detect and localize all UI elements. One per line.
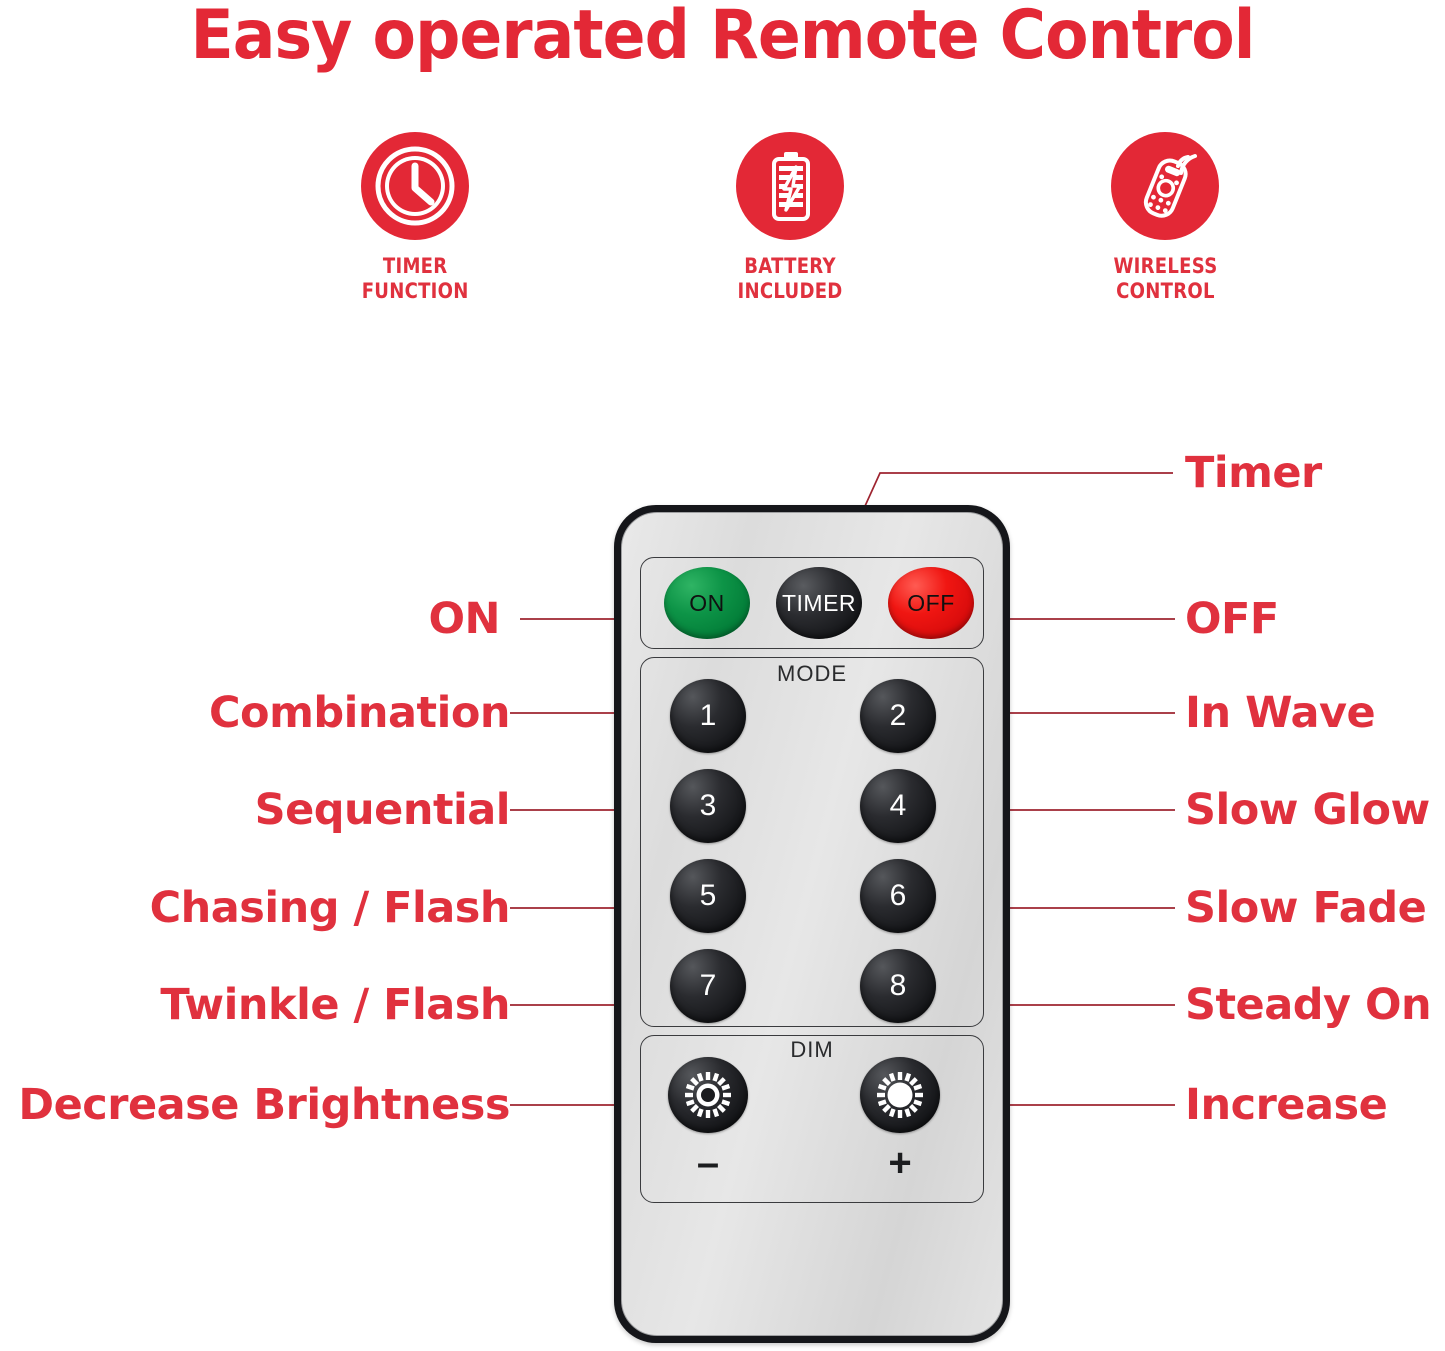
mode-button-7[interactable]: 7 bbox=[670, 949, 746, 1023]
remote-control: MODE DIM ON TIMER OFF 1 2 3 4 5 6 7 8 bbox=[614, 505, 1010, 1343]
callout-dim-down: Decrease Brightness bbox=[18, 1080, 510, 1130]
dim-up-sign: + bbox=[860, 1143, 940, 1183]
feature-wireless-control: WIRELESS CONTROL bbox=[1050, 132, 1280, 304]
remote-face: MODE DIM ON TIMER OFF 1 2 3 4 5 6 7 8 bbox=[621, 512, 1003, 1336]
mode-button-3[interactable]: 3 bbox=[670, 769, 746, 843]
mode-caption: MODE bbox=[622, 661, 1002, 687]
callout-on: ON bbox=[428, 594, 500, 644]
wireless-badge bbox=[1111, 132, 1219, 240]
feature-label: WIRELESS CONTROL bbox=[1113, 254, 1217, 304]
mode-button-4[interactable]: 4 bbox=[860, 769, 936, 843]
feature-label: TIMER FUNCTION bbox=[362, 254, 469, 304]
feature-timer-function: TIMER FUNCTION bbox=[300, 132, 530, 304]
dim-down-button[interactable] bbox=[668, 1057, 748, 1133]
callout-mode5: Chasing / Flash bbox=[150, 883, 510, 933]
callout-mode1: Combination bbox=[209, 688, 510, 738]
timer-badge bbox=[361, 132, 469, 240]
feature-list: TIMER FUNCTION BATTERY INCLUDED bbox=[300, 132, 1280, 304]
dim-down-sign: – bbox=[668, 1143, 748, 1183]
off-button[interactable]: OFF bbox=[888, 567, 974, 639]
timer-button[interactable]: TIMER bbox=[776, 567, 862, 639]
mode-button-5[interactable]: 5 bbox=[670, 859, 746, 933]
callout-dim-up: Increase bbox=[1185, 1080, 1387, 1130]
infographic-page: Easy operated Remote Control TIMER FUNCT… bbox=[0, 0, 1445, 1351]
remote-signal-icon bbox=[1123, 144, 1207, 228]
callout-mode6: Slow Fade bbox=[1185, 883, 1426, 933]
mode-button-8[interactable]: 8 bbox=[860, 949, 936, 1023]
mode-button-2[interactable]: 2 bbox=[860, 679, 936, 753]
mode-button-6[interactable]: 6 bbox=[860, 859, 936, 933]
mode-button-1[interactable]: 1 bbox=[670, 679, 746, 753]
feature-battery-included: BATTERY INCLUDED bbox=[675, 132, 905, 304]
callout-timer: Timer bbox=[1185, 448, 1322, 498]
callout-mode2: In Wave bbox=[1185, 688, 1375, 738]
on-button[interactable]: ON bbox=[664, 567, 750, 639]
dim-up-button[interactable] bbox=[860, 1057, 940, 1133]
brightness-low-icon bbox=[682, 1069, 734, 1121]
callout-mode7: Twinkle / Flash bbox=[160, 980, 510, 1030]
clock-icon bbox=[373, 144, 457, 228]
callout-mode8: Steady On bbox=[1185, 980, 1431, 1030]
brightness-high-icon bbox=[874, 1069, 926, 1121]
dim-caption: DIM bbox=[622, 1037, 1002, 1063]
callout-mode3: Sequential bbox=[255, 785, 510, 835]
battery-icon bbox=[748, 144, 832, 228]
page-title: Easy operated Remote Control bbox=[51, 0, 1395, 75]
callout-off: OFF bbox=[1185, 594, 1279, 644]
feature-label: BATTERY INCLUDED bbox=[737, 254, 842, 304]
callout-mode4: Slow Glow bbox=[1185, 785, 1430, 835]
battery-badge bbox=[736, 132, 844, 240]
